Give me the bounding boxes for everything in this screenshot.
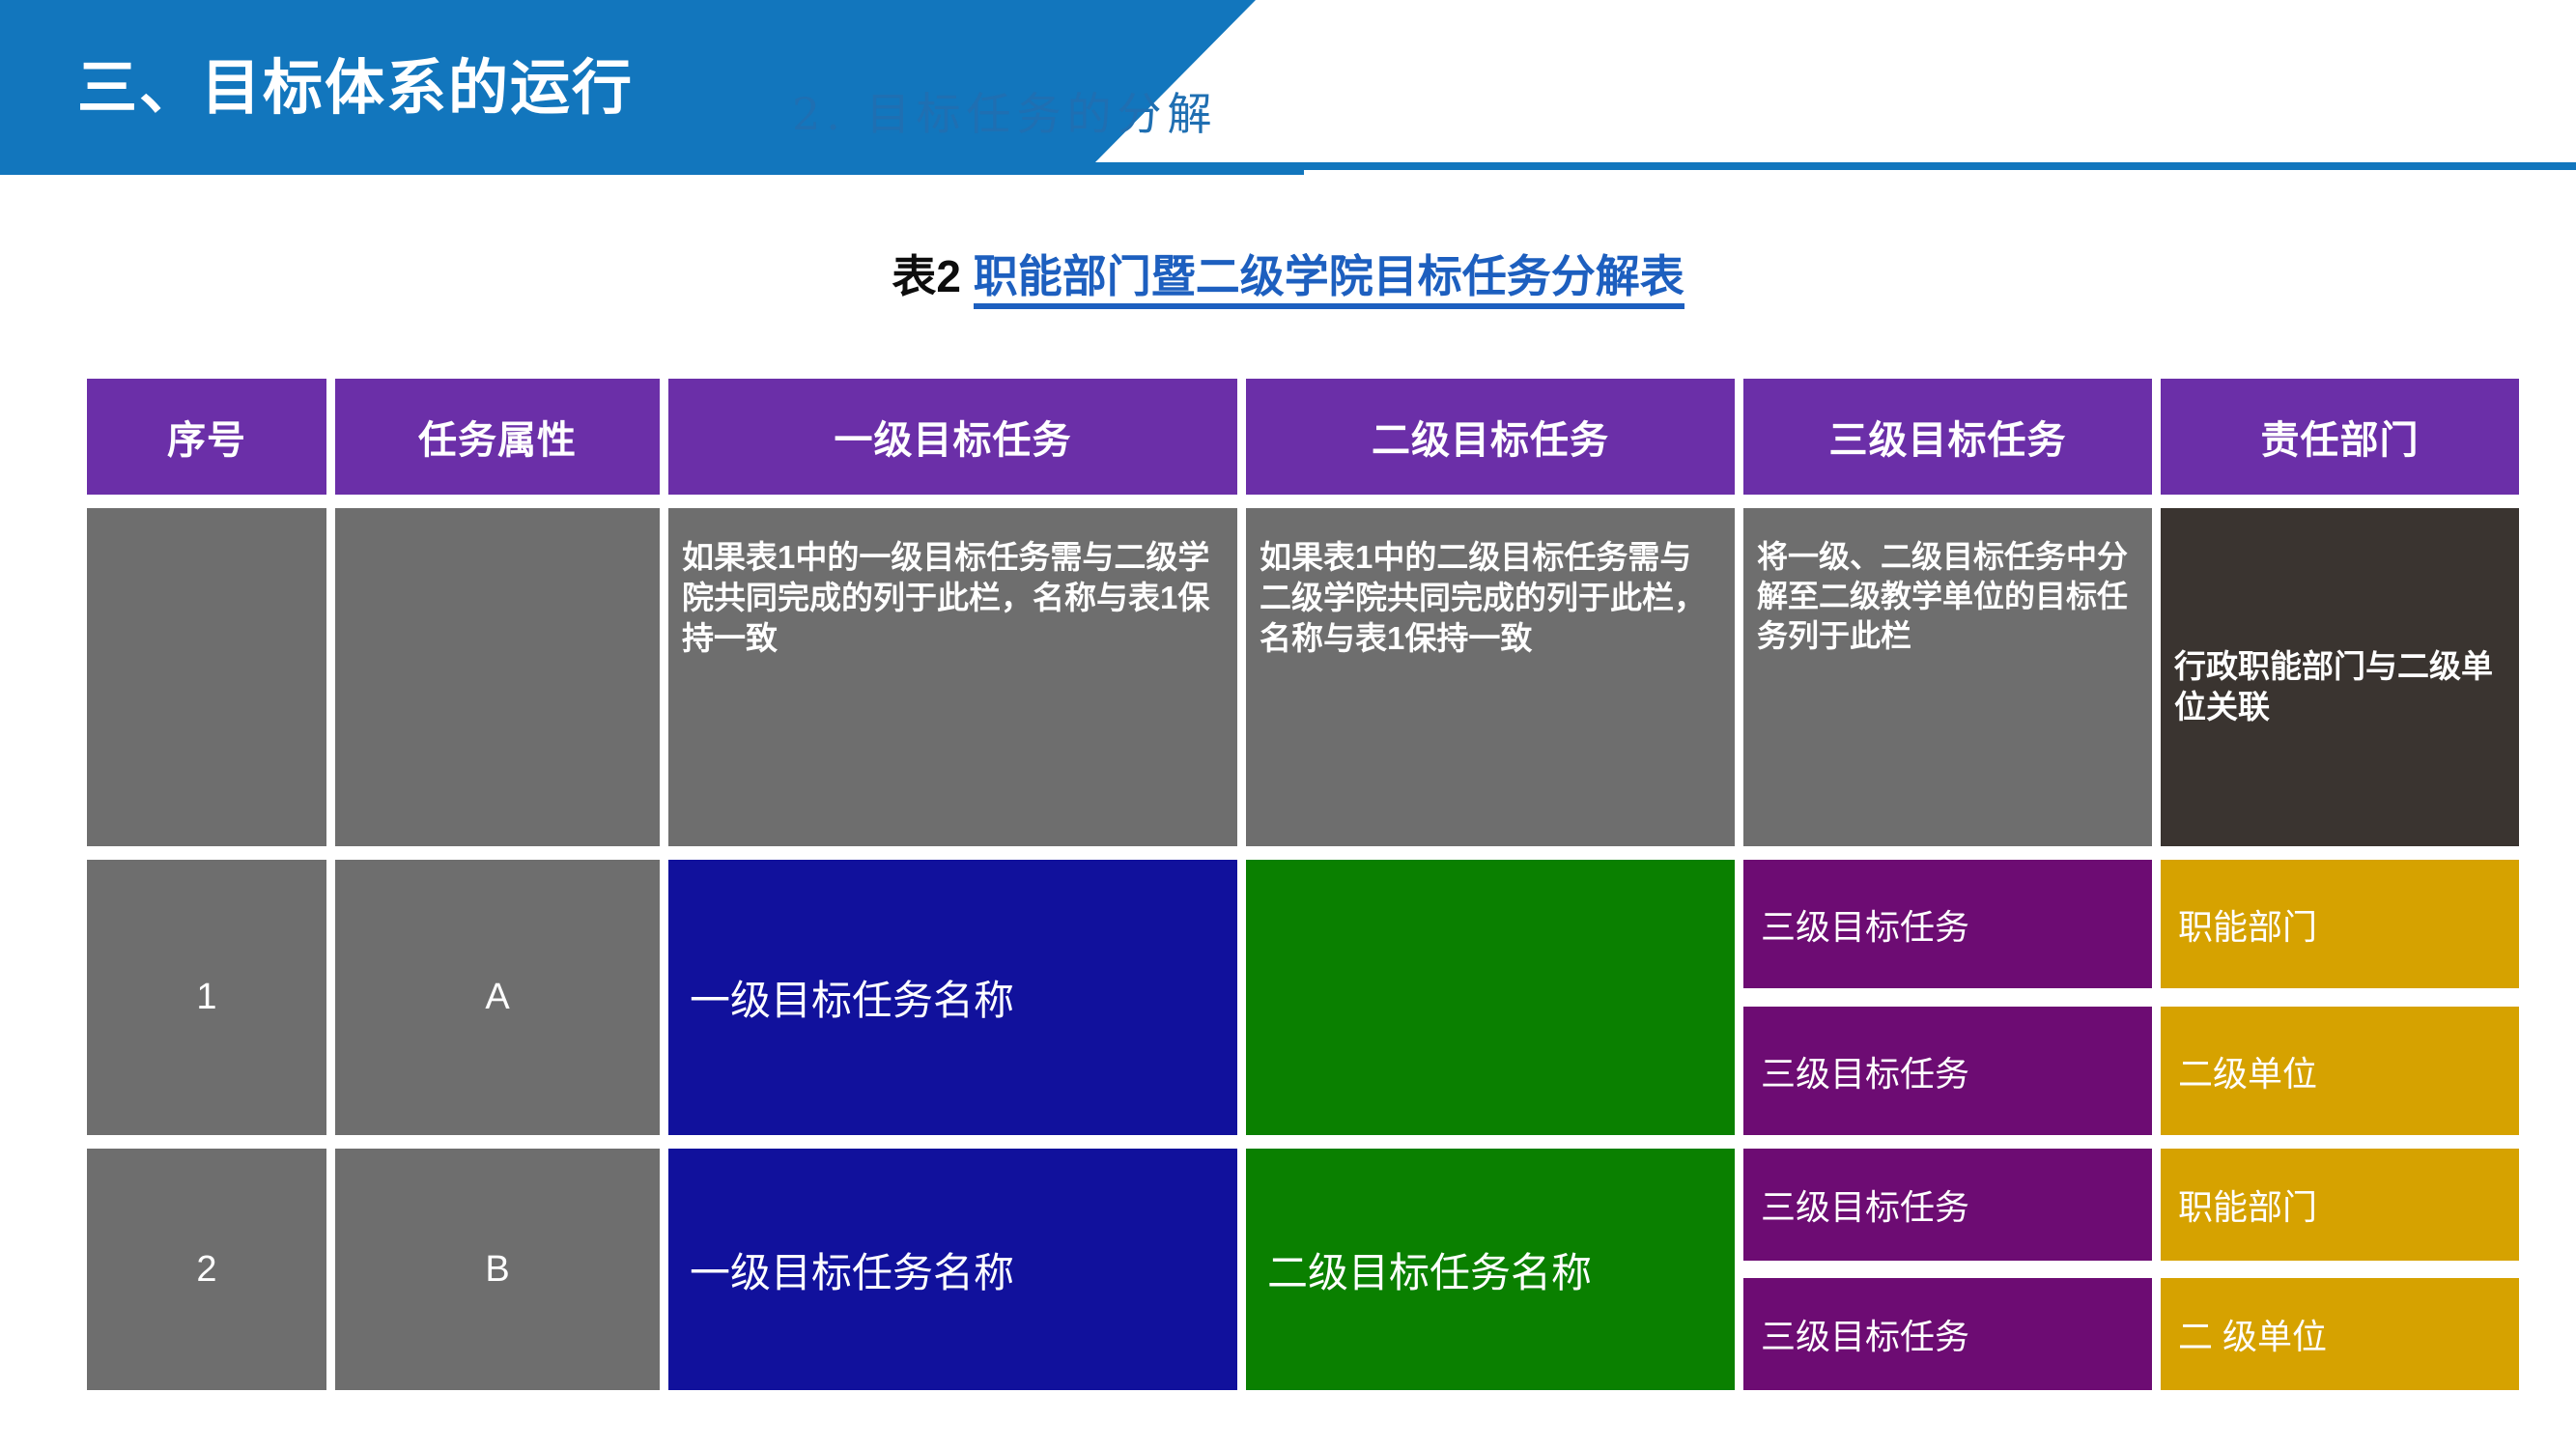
row-attribute: A: [335, 860, 660, 1135]
row-department: 二级单位: [2161, 1007, 2519, 1135]
row-department-group: 职能部门 二 级单位: [2161, 1149, 2519, 1390]
column-header-department: 责任部门: [2161, 379, 2519, 495]
table-description-row: 如果表1中的一级目标任务需与二级学院共同完成的列于此栏，名称与表1保持一致 如果…: [87, 508, 2519, 860]
column-header-level1: 一级目标任务: [668, 379, 1237, 495]
row-level2-task: [1246, 860, 1735, 1135]
description-attribute: [335, 508, 660, 846]
row-level3-task: 三级目标任务: [1743, 860, 2152, 988]
table-row: 2 B 一级目标任务名称 二级目标任务名称 三级目标任务 三级目标任务 职能部门…: [87, 1149, 2519, 1404]
row-serial: 2: [87, 1149, 326, 1390]
table-header-row: 序号 任务属性 一级目标任务 二级目标任务 三级目标任务 责任部门: [87, 379, 2519, 508]
section-title: 三、目标体系的运行: [77, 39, 634, 126]
row-level3-group: 三级目标任务 三级目标任务: [1743, 1149, 2152, 1390]
column-header-level2: 二级目标任务: [1246, 379, 1735, 495]
row-level3-task: 三级目标任务: [1743, 1007, 2152, 1135]
slide-subtitle: 2. 目标任务的分解: [792, 79, 1218, 143]
column-header-attribute: 任务属性: [335, 379, 660, 495]
row-department: 职能部门: [2161, 860, 2519, 988]
header-underline: [759, 162, 2576, 170]
table-title-prefix: 表2: [892, 251, 961, 301]
description-level1: 如果表1中的一级目标任务需与二级学院共同完成的列于此栏，名称与表1保持一致: [668, 508, 1237, 846]
description-level2: 如果表1中的二级目标任务需与二级学院共同完成的列于此栏，名称与表1保持一致: [1246, 508, 1735, 846]
row-level3-group: 三级目标任务 三级目标任务: [1743, 860, 2152, 1135]
row-level2-task: 二级目标任务名称: [1246, 1149, 1735, 1390]
row-serial: 1: [87, 860, 326, 1135]
row-level1-task: 一级目标任务名称: [668, 1149, 1237, 1390]
description-level3: 将一级、二级目标任务中分解至二级教学单位的目标任务列于此栏: [1743, 508, 2152, 846]
row-level3-task: 三级目标任务: [1743, 1149, 2152, 1261]
column-header-serial: 序号: [87, 379, 326, 495]
description-department: 行政职能部门与二级单位关联: [2161, 508, 2519, 846]
row-department: 职能部门: [2161, 1149, 2519, 1261]
task-decomposition-table: 序号 任务属性 一级目标任务 二级目标任务 三级目标任务 责任部门 如果表1中的…: [87, 379, 2519, 1404]
column-header-level3: 三级目标任务: [1743, 379, 2152, 495]
row-level3-task: 三级目标任务: [1743, 1278, 2152, 1390]
row-department: 二 级单位: [2161, 1278, 2519, 1390]
row-department-group: 职能部门 二级单位: [2161, 860, 2519, 1135]
table-title: 表2 职能部门暨二级学院目标任务分解表: [0, 242, 2576, 305]
description-serial: [87, 508, 326, 846]
table-title-main: 职能部门暨二级学院目标任务分解表: [974, 251, 1684, 309]
table-row: 1 A 一级目标任务名称 三级目标任务 三级目标任务 职能部门 二级单位: [87, 860, 2519, 1149]
row-attribute: B: [335, 1149, 660, 1390]
row-level1-task: 一级目标任务名称: [668, 860, 1237, 1135]
